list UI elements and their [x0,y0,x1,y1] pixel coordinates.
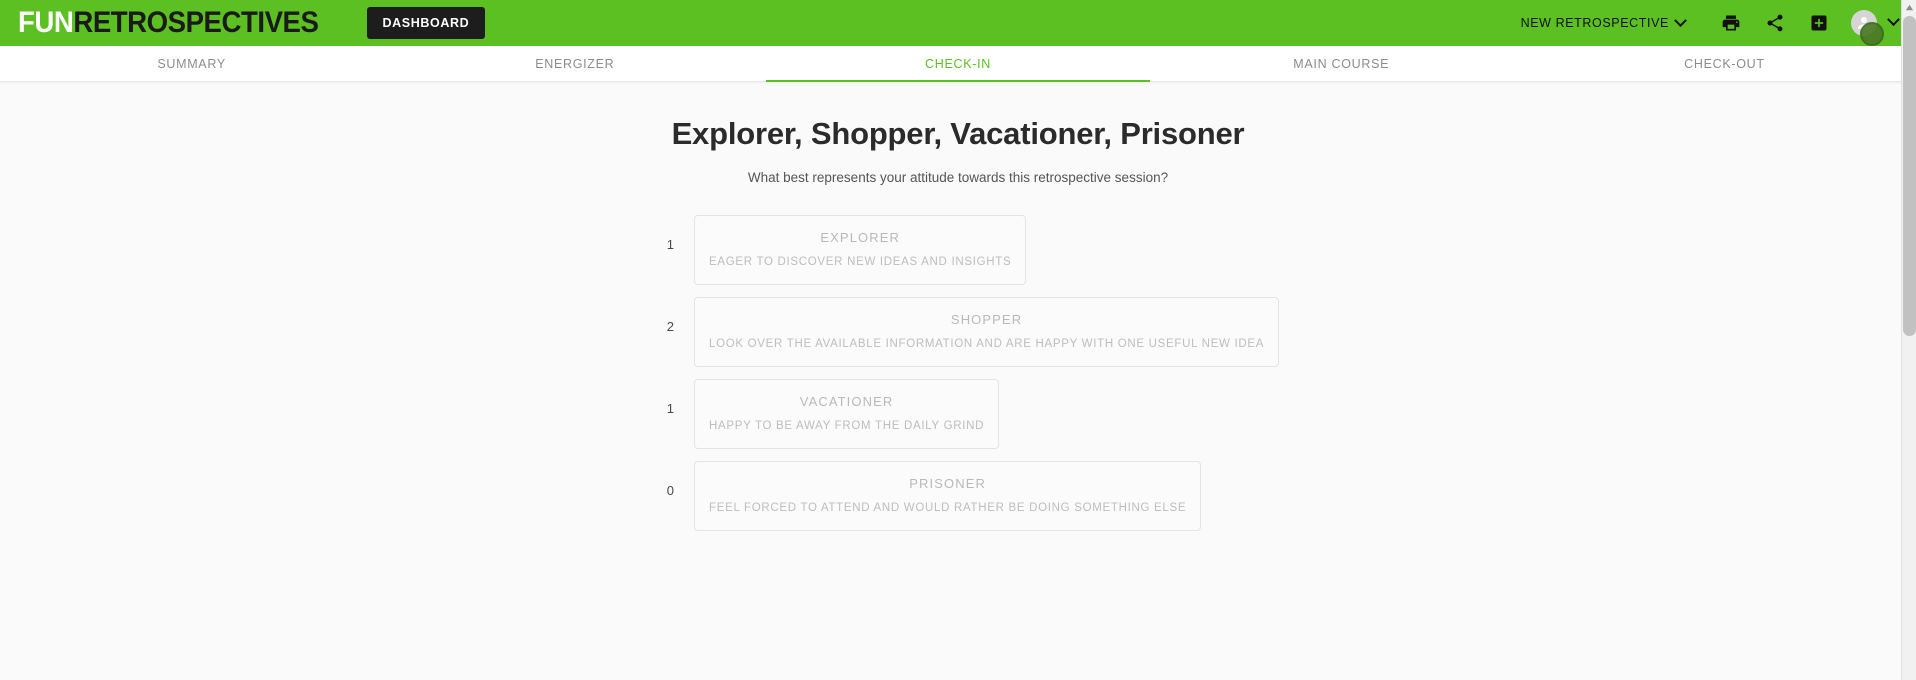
tab-label: ENERGIZER [535,57,614,71]
chevron-up-icon [1905,3,1914,12]
option-description: EAGER TO DISCOVER NEW IDEAS AND INSIGHTS [709,256,1011,268]
option-title: SHOPPER [709,312,1264,327]
tab-label: CHECK-OUT [1684,57,1765,71]
option-card-explorer[interactable]: EXPLORER EAGER TO DISCOVER NEW IDEAS AND… [694,215,1026,285]
person-icon [1855,14,1873,32]
option-title: EXPLORER [709,230,1011,245]
scroll-up-arrow[interactable] [1902,0,1916,15]
tab-energizer[interactable]: ENERGIZER [383,46,766,82]
section-tabs: SUMMARY ENERGIZER CHECK-IN MAIN COURSE C… [0,46,1916,82]
logo-retrospectives: RETROSPECTIVES [73,8,318,38]
page-scrollbar[interactable] [1901,0,1916,680]
print-button[interactable] [1709,0,1753,46]
print-icon [1721,13,1741,33]
app-logo[interactable]: FUNRETROSPECTIVES [18,8,318,38]
chevron-down-icon [1674,14,1687,27]
option-row-shopper: 2 SHOPPER LOOK OVER THE AVAILABLE INFORM… [0,297,1916,367]
add-box-button[interactable] [1797,0,1841,46]
scrollbar-thumb[interactable] [1903,16,1916,336]
app-header: FUNRETROSPECTIVES DASHBOARD NEW RETROSPE… [0,0,1916,46]
main-content: Explorer, Shopper, Vacationer, Prisoner … [0,82,1916,680]
vote-count: 1 [646,215,680,252]
option-title: PRISONER [709,476,1186,491]
tab-label: SUMMARY [157,57,226,71]
option-card-prisoner[interactable]: PRISONER FEEL FORCED TO ATTEND AND WOULD… [694,461,1201,531]
tab-label: MAIN COURSE [1293,57,1389,71]
vote-count: 1 [646,379,680,416]
share-icon [1765,13,1785,33]
chevron-down-icon [1887,13,1900,26]
new-retrospective-menu[interactable]: NEW RETROSPECTIVE [1521,16,1685,30]
new-retrospective-label: NEW RETROSPECTIVE [1521,16,1669,30]
header-actions: NEW RETROSPECTIVE [1521,0,1898,46]
avatar[interactable] [1851,10,1877,36]
option-description: FEEL FORCED TO ATTEND AND WOULD RATHER B… [709,502,1186,514]
account-menu-button[interactable] [1889,14,1898,32]
tab-check-out[interactable]: CHECK-OUT [1533,46,1916,82]
page-title: Explorer, Shopper, Vacationer, Prisoner [0,116,1916,152]
vote-count: 2 [646,297,680,334]
dashboard-button[interactable]: DASHBOARD [367,7,486,39]
option-row-explorer: 1 EXPLORER EAGER TO DISCOVER NEW IDEAS A… [0,215,1916,285]
tab-label: CHECK-IN [925,57,991,71]
logo-fun: FUN [18,8,73,38]
vote-count: 0 [646,461,680,498]
option-row-prisoner: 0 PRISONER FEEL FORCED TO ATTEND AND WOU… [0,461,1916,531]
option-list: 1 EXPLORER EAGER TO DISCOVER NEW IDEAS A… [0,215,1916,531]
option-card-vacationer[interactable]: VACATIONER HAPPY TO BE AWAY FROM THE DAI… [694,379,999,449]
page-subtitle: What best represents your attitude towar… [0,170,1916,185]
tab-check-in[interactable]: CHECK-IN [766,46,1149,82]
option-description: LOOK OVER THE AVAILABLE INFORMATION AND … [709,338,1264,350]
add-box-icon [1809,13,1829,33]
option-row-vacationer: 1 VACATIONER HAPPY TO BE AWAY FROM THE D… [0,379,1916,449]
share-button[interactable] [1753,0,1797,46]
tab-summary[interactable]: SUMMARY [0,46,383,82]
option-description: HAPPY TO BE AWAY FROM THE DAILY GRIND [709,420,984,432]
option-card-shopper[interactable]: SHOPPER LOOK OVER THE AVAILABLE INFORMAT… [694,297,1279,367]
tab-main-course[interactable]: MAIN COURSE [1150,46,1533,82]
option-title: VACATIONER [709,394,984,409]
